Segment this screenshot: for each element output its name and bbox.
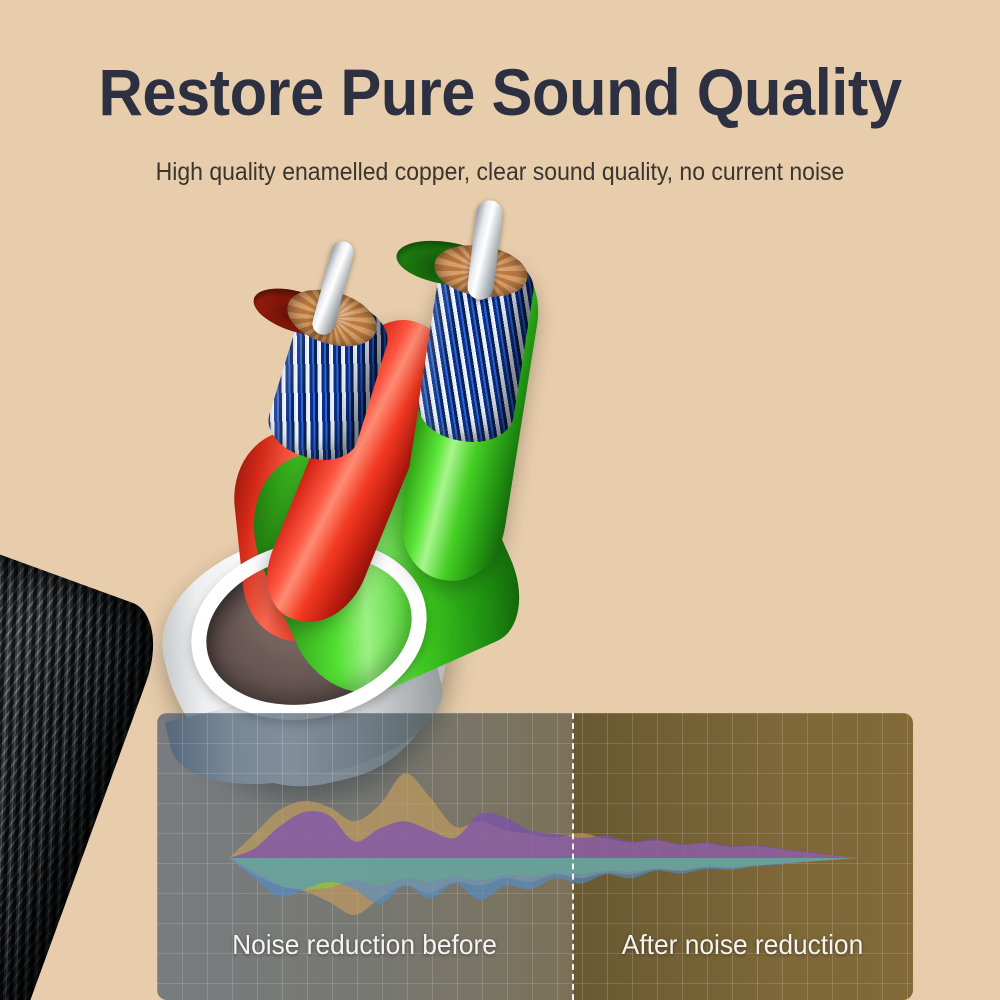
page-subtitle: High quality enamelled copper, clear sou… (40, 158, 960, 187)
comparison-divider (572, 713, 574, 1000)
page-title: Restore Pure Sound Quality (35, 58, 965, 127)
braided-cable-jacket (0, 504, 170, 1000)
label-noise-before: Noise reduction before (169, 929, 559, 961)
wave-signal-envelope-purple (229, 811, 857, 858)
label-noise-after: After noise reduction (582, 929, 903, 961)
product-marketing-banner: Restore Pure Sound Quality High quality … (0, 0, 1000, 1000)
noise-comparison-panel: Noise reduction before After noise reduc… (157, 713, 913, 1000)
